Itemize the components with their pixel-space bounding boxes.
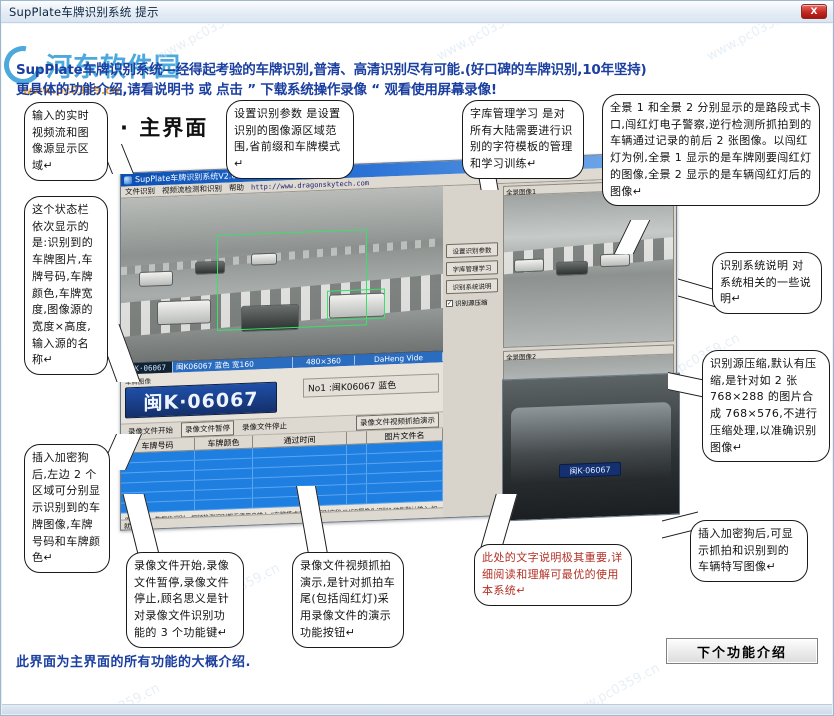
column-spacer xyxy=(347,431,367,444)
callout-dongle-left: 插入加密狗后,左边 2 个区域可分别显示识别到的车牌图像,车牌号码和车牌颜色↵ xyxy=(24,444,110,573)
callout-record-demo: 录像文件视频抓拍演示,是针对抓拍车尾(包括闯红灯)采用录像文件的演示功能按钮↵ xyxy=(292,552,404,648)
column-plate-color: 车牌颜色 xyxy=(195,436,253,450)
closeup-plate: 闽K·06067 xyxy=(559,462,621,478)
menu-item-file-recognition[interactable]: 文件识别 xyxy=(125,185,155,197)
vehicle-closeup-photo: 闽K·06067 xyxy=(502,373,680,522)
callout-source-compression: 识别源压缩,默认有压缩,是针对如 2 张 768×288 的图片合成 768×5… xyxy=(702,350,830,462)
vehicle xyxy=(556,261,588,276)
plate-result-field: No1 :闽K06067 蓝色 xyxy=(303,374,439,398)
plate-image: 闽K·06067 xyxy=(125,382,277,419)
main-label-text: · 主界面 xyxy=(120,116,208,140)
vehicle xyxy=(514,258,544,272)
source-compression-label: 识别源压缩 xyxy=(455,297,488,308)
menu-item-video-stream[interactable]: 视频流检测和识别 xyxy=(162,183,222,196)
vehicle xyxy=(157,299,211,325)
dialog-window: SupPlate车牌识别系统 提示 X 河东软件园 www.pc0359.cn … xyxy=(0,0,834,716)
character-library-button[interactable]: 字库管理学习 xyxy=(446,260,498,276)
app-icon xyxy=(124,176,132,184)
callout-record-buttons: 录像文件开始,录像文件暂停,录像文件停止,顾名思义是针对录像文件识别功能的 3 … xyxy=(126,552,244,648)
video-preview-area xyxy=(121,186,443,362)
detection-box xyxy=(327,289,385,321)
callout-status-bar: 这个状态栏依次显示的是:识别到的车牌图片,车牌号码,车牌颜色,车牌宽度,图像源的… xyxy=(24,196,108,375)
footer-note: 此界面为主界面的所有功能的大概介绍. xyxy=(16,651,251,670)
plate-left-group: 车牌图像 闽K·06067 xyxy=(125,370,295,421)
close-icon[interactable]: X xyxy=(801,4,827,19)
callout-important-note: 此处的文字说明极其重要,详细阅读和理解可最优的使用本系统↵ xyxy=(474,544,632,606)
callout-vehicle-closeup: 插入加密狗后,可显示抓拍和识别到的车辆特写图像↵ xyxy=(690,520,808,582)
window-titlebar: SupPlate车牌识别系统 提示 X xyxy=(1,1,833,23)
source-compression-checkbox[interactable]: ✓ 识别源压缩 xyxy=(446,296,498,308)
window-title: SupPlate车牌识别系统 提示 xyxy=(9,4,159,20)
callout-system-description: 识别系统说明 对系统相关的一些说明↵ xyxy=(712,252,822,314)
record-stop-button[interactable]: 录像文件停止 xyxy=(239,419,290,434)
content-canvas: 河东软件园 www.pc0359.cn www.pc0359.cn www.pc… xyxy=(2,24,832,714)
callout-panorama: 全景 1 和全景 2 分别显示的是路段式卡口,闯红灯电子警察,逆行检测所抓拍到的… xyxy=(602,94,820,206)
page-title: · 主界面 xyxy=(120,112,208,142)
headline-secondary: 更具体的功能介绍,请看说明书 或 点击 ” 下载系统操作录像 “ 观看使用屏幕录… xyxy=(16,78,497,98)
vehicle xyxy=(600,253,630,267)
callout-character-library: 字库管理学习 是对所有大陆需要进行识别的字符模板的管理和学习训练↵ xyxy=(462,100,584,179)
watermark-tile: www.pc0359.cn xyxy=(704,24,802,64)
next-feature-button[interactable]: 下个功能介绍 xyxy=(666,638,818,664)
checkbox-check-icon: ✓ xyxy=(446,299,453,306)
headline-primary: SupPlate车牌识别系统—经得起考验的车牌识别,普清、高清识别尽有可能.(好… xyxy=(16,58,646,78)
system-description-button[interactable]: 识别系统说明 xyxy=(446,278,498,294)
control-button-column: 设置识别参数 字库管理学习 识别系统说明 ✓ 识别源压缩 xyxy=(443,184,501,517)
callout-tail xyxy=(678,279,716,308)
record-pause-button[interactable]: 录像文件暂停 xyxy=(181,420,234,437)
left-column: 闽K·06067 闽K06067 蓝色 宽160 480×360 DaHeng … xyxy=(121,186,443,529)
panorama-1-image xyxy=(504,189,673,346)
menu-item-help[interactable]: 帮助 xyxy=(229,182,244,194)
vehicle xyxy=(139,271,173,287)
set-recognition-params-button[interactable]: 设置识别参数 xyxy=(446,242,498,258)
callout-input-area: 输入的实时视频流和图像源显示区域↵ xyxy=(24,102,108,181)
bottom-strip xyxy=(2,704,832,714)
callout-recognition-params: 设置识别参数 是设置识别的图像源区域范围,省前缀和车牌模式↵ xyxy=(226,100,354,179)
